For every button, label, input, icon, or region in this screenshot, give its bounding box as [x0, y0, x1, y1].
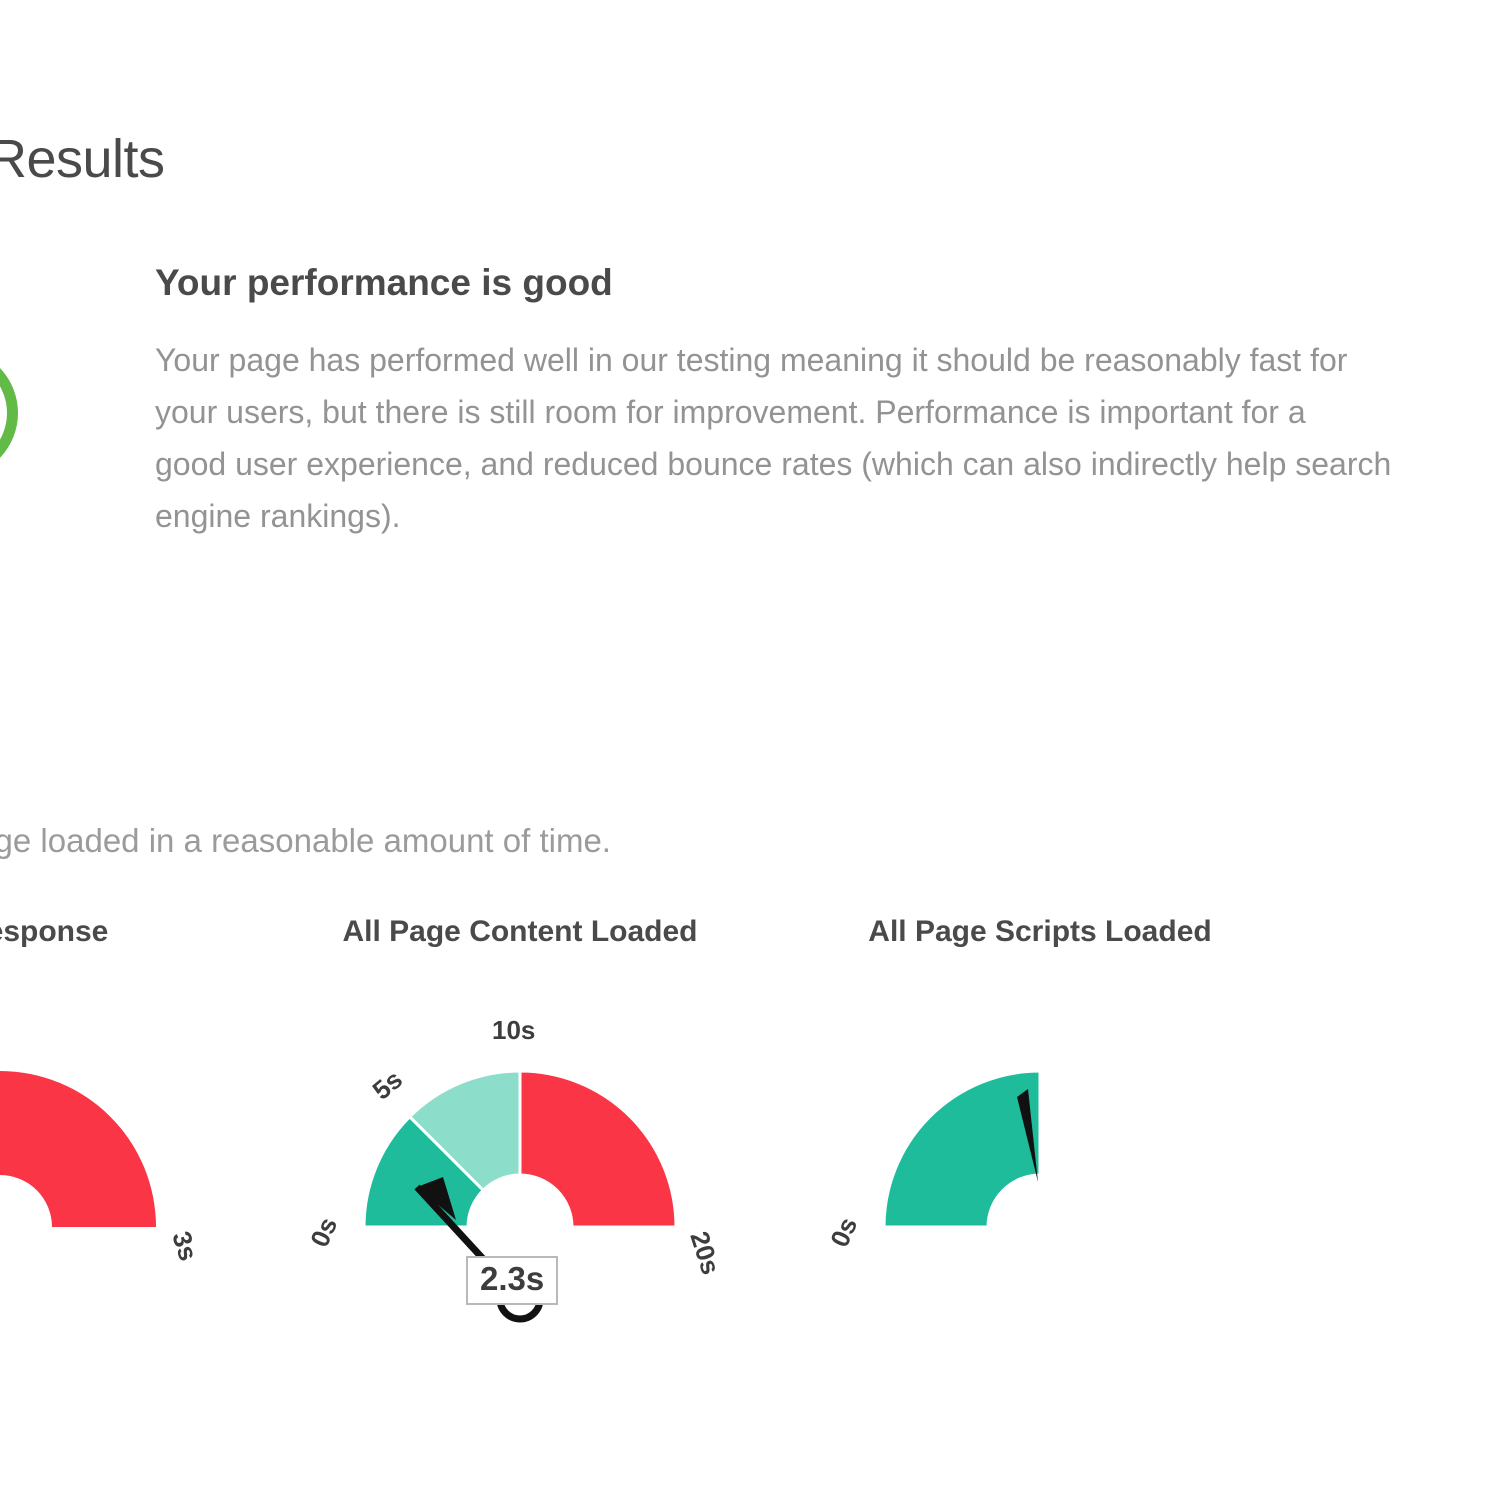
gauge-body: 3s [0, 967, 260, 1367]
gauge-tick-label: 3s [166, 1228, 203, 1265]
gauge-all-page-content-loaded: All Page Content Loaded 0s 5s 10s [260, 915, 780, 1367]
gauge-title: All Page Scripts Loaded [780, 915, 1300, 949]
gauge-band-slow [0, 1071, 156, 1227]
gauge-tick-label-0: 0s [824, 1213, 863, 1252]
gauges-intro-text: Your page loaded in a reasonable amount … [0, 822, 611, 860]
gauge-body: 0s 5s 10s 20s 2.3s [260, 967, 780, 1367]
gauge-tick-label-1: 5s [367, 1064, 408, 1106]
gauge-title: All Page Content Loaded [260, 915, 780, 949]
gauge-band-fast [884, 1071, 1040, 1227]
gauge-band-slow [520, 1071, 676, 1227]
summary-heading: Your performance is good [155, 262, 1500, 304]
gauge-all-page-scripts-loaded: All Page Scripts Loaded 0s [780, 915, 1300, 1367]
gauge-tick-label-3: 20s [684, 1228, 726, 1279]
gauge-arc-graphic: 0s [780, 967, 1300, 1367]
gauge-value-box: 2.3s [466, 1256, 558, 1305]
gauge-tick-label-2: 10s [492, 1015, 535, 1045]
summary-body-line-4: engine rankings). [155, 490, 1500, 542]
summary-body-line-3: good user experience, and reduced bounce… [155, 438, 1500, 490]
gauge-body: 0s [780, 967, 1300, 1367]
gauge-tick-label-0: 0s [304, 1213, 343, 1252]
summary-body-line-1: Your page has performed well in our test… [155, 334, 1500, 386]
gauge-row: First Response 3s All Page Content Loade… [0, 915, 1500, 1367]
gauge-arc-graphic: 3s [0, 967, 260, 1367]
summary-body: Your page has performed well in our test… [155, 334, 1500, 542]
gauge-title: First Response [0, 915, 260, 949]
page-title: Results [0, 128, 165, 190]
summary-block: Your performance is good Your page has p… [155, 262, 1500, 542]
gauge-arc-graphic: 0s 5s 10s 20s [260, 967, 780, 1367]
score-ring-icon [0, 348, 18, 478]
summary-body-line-2: your users, but there is still room for … [155, 386, 1500, 438]
gauge-first-response: First Response 3s [0, 915, 260, 1367]
